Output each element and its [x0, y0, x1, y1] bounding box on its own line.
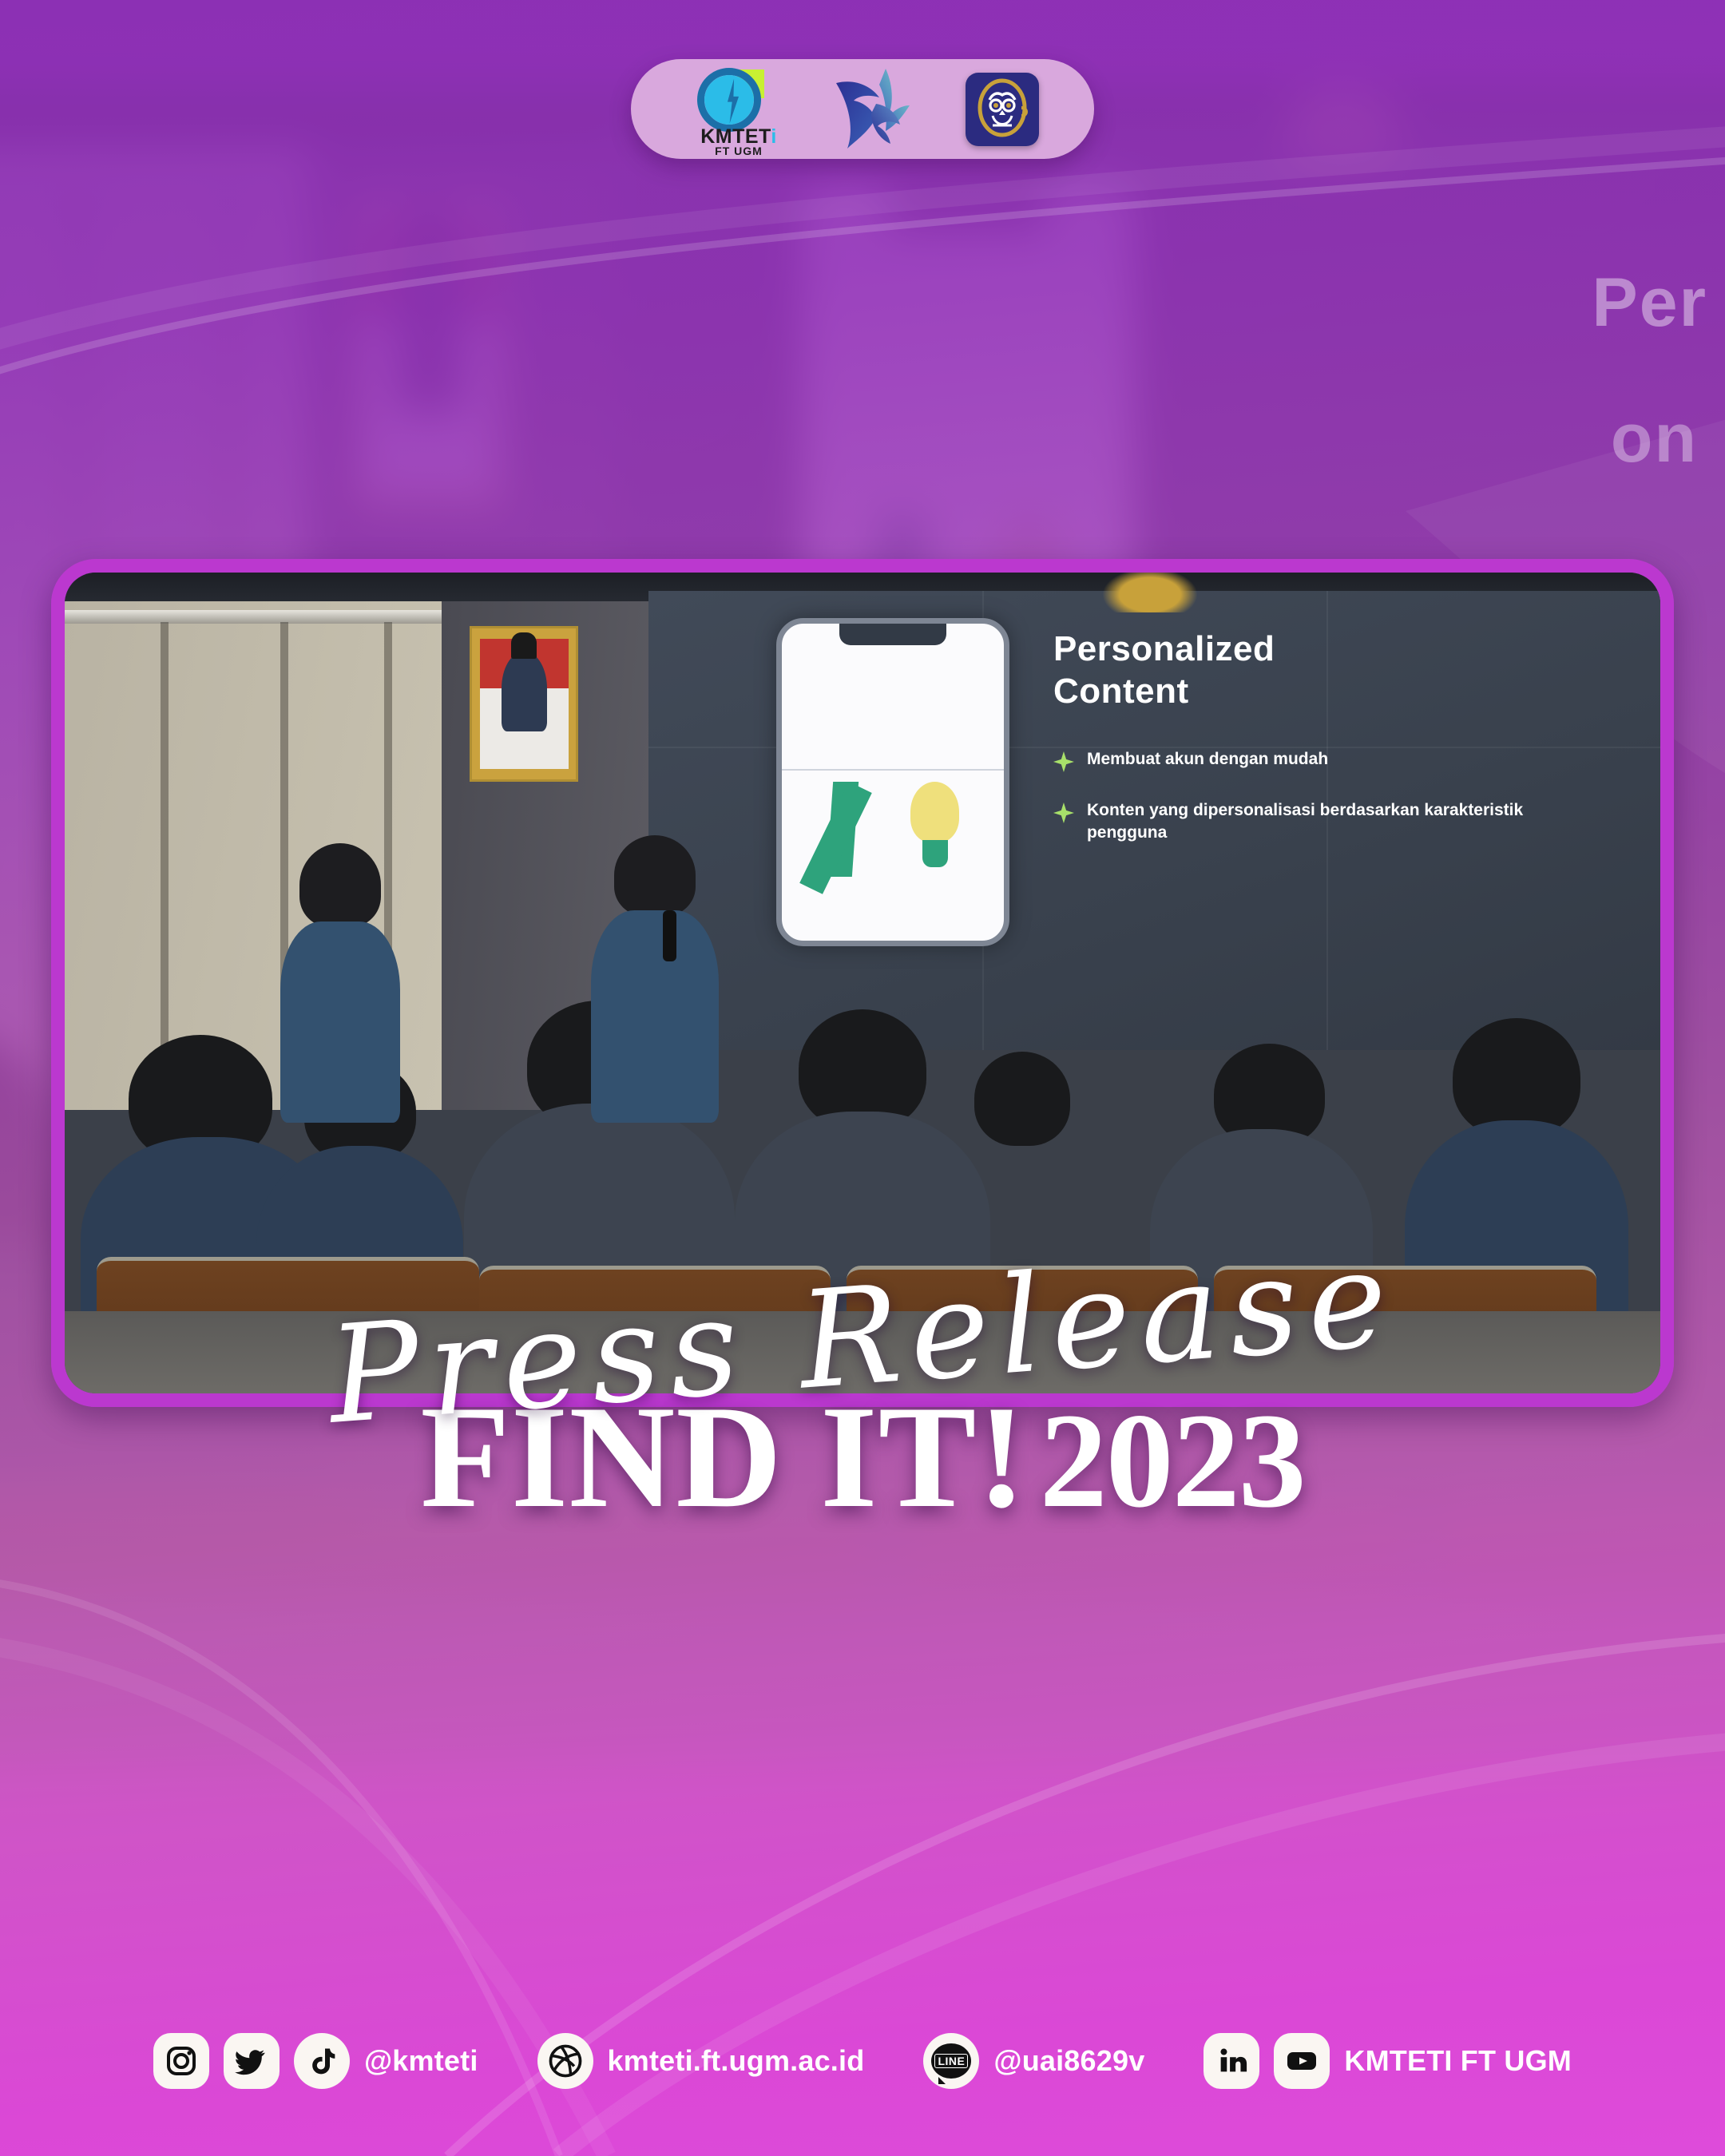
- presenter-center: [591, 835, 719, 1123]
- slide-bullet-sparkle-icon: [1053, 751, 1074, 772]
- slide-heading-line1: Personalized: [1053, 628, 1620, 671]
- dribbble-icon[interactable]: [537, 2033, 593, 2089]
- social-group-brand: KMTETI FT UGM: [1204, 2033, 1572, 2089]
- line-icon[interactable]: LINE: [923, 2033, 979, 2089]
- linkedin-icon[interactable]: [1204, 2033, 1259, 2089]
- youtube-icon[interactable]: [1274, 2033, 1330, 2089]
- slide-bullet-2: Konten yang dipersonalisasi berdasarkan …: [1087, 799, 1534, 845]
- wall-emblem: [1102, 573, 1198, 612]
- tiktok-icon[interactable]: [294, 2033, 350, 2089]
- slide-bullet-1: Membuat akun dengan mudah: [1087, 748, 1328, 771]
- slide-heading-line2: Content: [1053, 670, 1620, 713]
- slide-phone-mockup: [776, 618, 1009, 946]
- handle-website: kmteti.ft.ugm.ac.id: [608, 2044, 865, 2078]
- slide-bullet-sparkle-icon: [1053, 803, 1074, 823]
- poster-canvas: Per on KMTETi FT UGM: [0, 0, 1725, 2156]
- handle-line: @uai8629v: [993, 2044, 1144, 2078]
- presidential-portrait: [470, 626, 578, 782]
- app-n-logo-icon: [822, 782, 919, 877]
- backdrop-slide-text-2: on: [1611, 399, 1698, 478]
- event-photo-frame: Personalized Content Membuat akun dengan…: [51, 559, 1674, 1407]
- line-wordmark: LINE: [934, 2054, 968, 2068]
- handle-social: @kmteti: [364, 2044, 478, 2078]
- social-footer: @kmteti kmteti.ft.ugm.ac.id LINE: [0, 2033, 1725, 2089]
- kmteti-logo: KMTETi FT UGM: [686, 68, 791, 151]
- social-group-line: LINE @uai8629v: [923, 2033, 1144, 2089]
- ugm-owl-logo: [966, 73, 1039, 146]
- event-photo: Personalized Content Membuat akun dengan…: [65, 573, 1660, 1393]
- lightbulb-icon: [910, 782, 959, 842]
- backdrop-slide-text-1: Per: [1592, 264, 1707, 343]
- logo-bar: KMTETi FT UGM: [631, 59, 1094, 159]
- twitter-icon[interactable]: [224, 2033, 280, 2089]
- instagram-icon[interactable]: [153, 2033, 209, 2089]
- kmteti-subwordmark: FT UGM: [686, 145, 791, 157]
- find-it-logo: [827, 65, 930, 153]
- presenter-left: [280, 843, 400, 1123]
- social-group-primary: @kmteti: [153, 2033, 478, 2089]
- handle-brand: KMTETI FT UGM: [1344, 2044, 1572, 2078]
- social-group-website: kmteti.ft.ugm.ac.id: [537, 2033, 865, 2089]
